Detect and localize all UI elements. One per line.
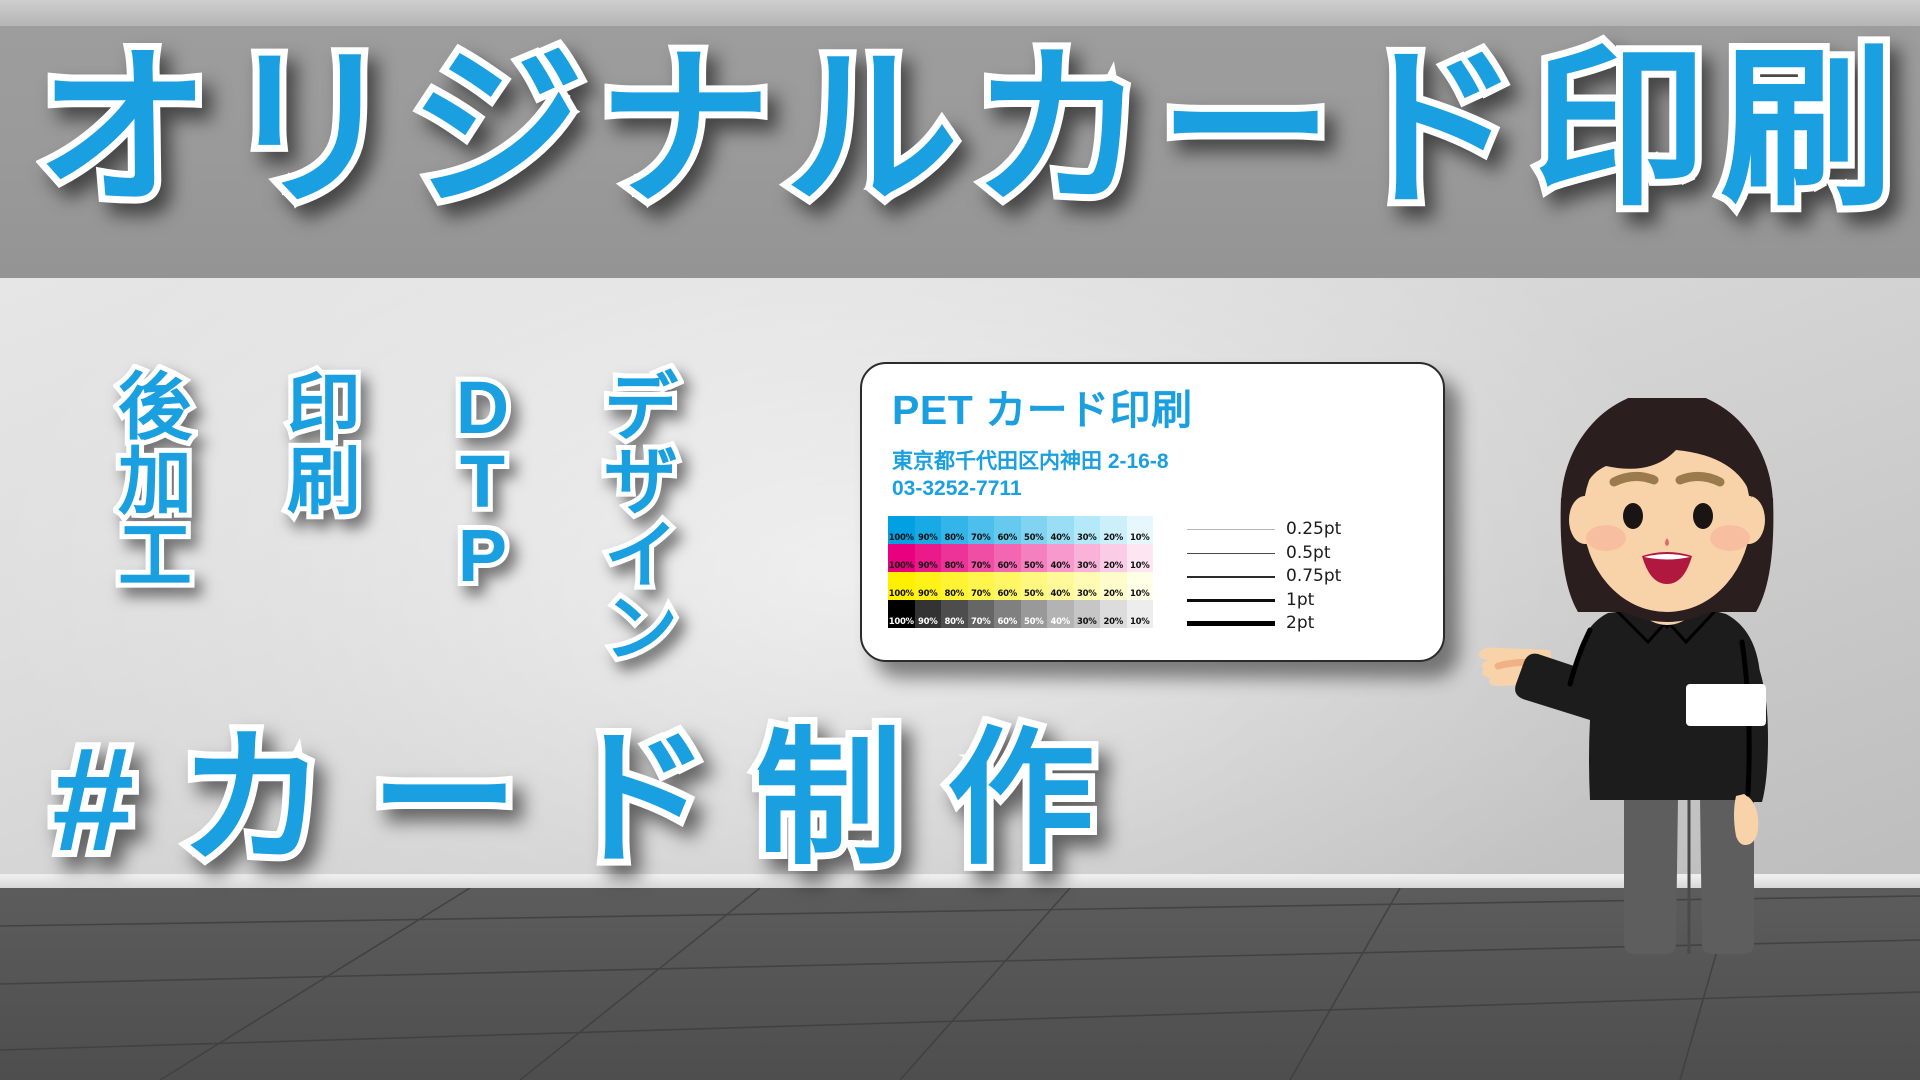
swatch-percent-label: 80% [945,562,964,572]
color-swatch: 70% [968,600,995,628]
swatch-percent-label: 80% [945,590,964,600]
staff-figure [1438,398,1920,958]
service-column-dtp: D T P [456,372,509,672]
color-swatch: 10% [1127,600,1154,628]
sample-card: PET カード印刷 東京都千代田区内神田 2-16-8 03-3252-7711… [860,362,1445,662]
swatch-percent-label: 60% [998,534,1017,544]
service-char: D [456,372,509,444]
color-swatch: 90% [915,572,942,600]
swatch-percent-label: 30% [1077,562,1096,572]
swatch-percent-label: 10% [1130,590,1149,600]
hashtag-char: 作 [947,717,1096,882]
swatch-percent-label: 40% [1051,618,1070,628]
color-swatch: 20% [1100,516,1127,544]
card-contact: 東京都千代田区内神田 2-16-8 03-3252-7711 [892,449,1417,503]
swatch-percent-label: 20% [1104,618,1123,628]
staff-illustration [1438,398,1920,958]
color-swatch: 80% [941,544,968,572]
headline-char: ジ [410,42,586,216]
service-column-design: デ ザ イ ン [604,372,678,672]
swatch-percent-label: 60% [998,618,1017,628]
service-char: P [458,520,507,592]
color-swatch: 50% [1021,572,1048,600]
hashtag-label: # カ ー ド 制 作 [52,726,1096,874]
line-weight-label: 2pt [1286,615,1314,632]
swatch-percent-label: 100% [889,534,914,544]
service-char: イ [604,520,678,592]
color-swatch: 60% [994,544,1021,572]
color-swatch: 80% [941,572,968,600]
thumbnail-canvas: オ リ ジ ナ ル カ ー ド 印 刷 デ ザ イ ン D T P 印 刷 後 … [0,0,1920,1080]
swatch-percent-label: 40% [1051,562,1070,572]
headline-char: 刷 [1720,42,1896,216]
color-swatch: 20% [1100,544,1127,572]
color-swatch: 50% [1021,516,1048,544]
background-top-band-sheen [0,0,1920,26]
color-swatch: 90% [915,600,942,628]
color-swatch: 20% [1100,600,1127,628]
color-swatch: 40% [1047,516,1074,544]
swatch-percent-label: 20% [1104,562,1123,572]
headline-char: 印 [1533,42,1709,216]
color-swatch: 90% [915,544,942,572]
swatch-percent-label: 100% [889,618,914,628]
swatch-percent-label: 40% [1051,534,1070,544]
swatch-percent-label: 20% [1104,590,1123,600]
service-char: デ [604,372,678,444]
color-swatch: 100% [888,572,915,600]
color-swatch: 60% [994,600,1021,628]
swatch-percent-label: 60% [998,562,1017,572]
service-char: 後 [118,372,192,444]
color-row-cyan: 100%90%80%70%60%50%40%30%20%10% [888,516,1153,544]
line-weight-row: 0.75pt [1187,565,1417,589]
line-weight-label: 0.5pt [1286,545,1331,562]
swatch-percent-label: 10% [1130,534,1149,544]
headline-char: リ [223,42,399,216]
color-swatch: 80% [941,600,968,628]
hashtag-char: 制 [755,717,904,882]
color-swatch: 70% [968,572,995,600]
color-swatch: 100% [888,516,915,544]
service-char: ザ [604,446,678,518]
line-weight-row: 1pt [1187,588,1417,612]
blush-left [1710,525,1750,551]
color-swatch: 20% [1100,572,1127,600]
swatch-percent-label: 30% [1077,618,1096,628]
color-row-yellow: 100%90%80%70%60%50%40%30%20%10% [888,572,1153,600]
service-char: 工 [118,520,192,592]
color-swatch: 10% [1127,572,1154,600]
service-column-post-process: 後 加 工 [118,372,192,672]
color-row-black: 100%90%80%70%60%50%40%30%20%10% [888,600,1153,628]
hashtag-char: カ [178,717,327,882]
swatch-percent-label: 40% [1051,590,1070,600]
color-swatch: 100% [888,544,915,572]
hashtag-char: # [52,717,136,882]
color-swatch: 30% [1074,600,1101,628]
color-swatch: 50% [1021,600,1048,628]
line-weight-legend: 0.25pt0.5pt0.75pt1pt2pt [1169,516,1417,636]
hashtag-char: ド [563,717,712,882]
swatch-percent-label: 100% [889,590,914,600]
swatch-percent-label: 70% [971,590,990,600]
color-swatch: 60% [994,572,1021,600]
swatch-percent-label: 50% [1024,534,1043,544]
swatch-percent-label: 70% [971,534,990,544]
service-char: 印 [287,372,361,444]
swatch-percent-label: 50% [1024,590,1043,600]
swatch-percent-label: 100% [889,562,914,572]
swatch-percent-label: 90% [918,590,937,600]
color-swatch: 10% [1127,544,1154,572]
swatch-percent-label: 30% [1077,534,1096,544]
color-swatch: 30% [1074,572,1101,600]
swatch-percent-label: 50% [1024,562,1043,572]
swatch-percent-label: 20% [1104,534,1123,544]
headline-char: オ [36,42,212,216]
headline-char: ル [785,42,961,216]
card-title: PET カード印刷 [892,390,1417,431]
swatch-percent-label: 10% [1130,562,1149,572]
line-weight-sample [1187,541,1275,565]
cmyk-color-chart: 100%90%80%70%60%50%40%30%20%10%100%90%80… [888,516,1153,628]
line-weight-sample [1187,588,1275,612]
color-swatch: 100% [888,600,915,628]
headline-char: カ [972,42,1148,216]
card-phone: 03-3252-7711 [892,476,1417,503]
line-weight-label: 0.75pt [1286,568,1341,585]
color-swatch: 30% [1074,516,1101,544]
page-title: オ リ ジ ナ ル カ ー ド 印 刷 [36,36,1896,222]
line-weight-sample [1187,565,1275,589]
name-tag [1686,684,1766,726]
line-weight-row: 0.5pt [1187,541,1417,565]
service-char: 加 [118,446,192,518]
color-swatch: 80% [941,516,968,544]
eye-left [1693,503,1713,529]
color-swatch: 50% [1021,544,1048,572]
color-swatch: 10% [1127,516,1154,544]
swatch-percent-label: 90% [918,562,937,572]
service-column-printing: 印 刷 [287,372,361,672]
color-swatch: 40% [1047,572,1074,600]
headline-char: ー [1159,42,1335,216]
color-swatch: 40% [1047,544,1074,572]
swatch-percent-label: 70% [971,618,990,628]
headline-char: ナ [597,42,773,216]
swatch-percent-label: 80% [945,618,964,628]
card-address: 東京都千代田区内神田 2-16-8 [892,449,1417,476]
color-row-magenta: 100%90%80%70%60%50%40%30%20%10% [888,544,1153,572]
headline-char: ド [1346,42,1522,216]
swatch-percent-label: 80% [945,534,964,544]
line-weight-label: 0.25pt [1286,521,1341,538]
service-char: ン [604,593,678,665]
swatch-percent-label: 10% [1130,618,1149,628]
color-swatch: 70% [968,516,995,544]
line-weight-sample [1187,612,1275,636]
swatch-percent-label: 90% [918,534,937,544]
color-swatch: 90% [915,516,942,544]
line-weight-row: 2pt [1187,612,1417,636]
swatch-percent-label: 90% [918,618,937,628]
eye-right [1623,503,1643,529]
swatch-percent-label: 60% [998,590,1017,600]
line-weight-sample [1187,518,1275,542]
card-body: 100%90%80%70%60%50%40%30%20%10%100%90%80… [888,516,1417,636]
swatch-percent-label: 50% [1024,618,1043,628]
color-swatch: 30% [1074,544,1101,572]
color-swatch: 40% [1047,600,1074,628]
hashtag-char: ー [371,717,520,882]
service-char: 刷 [287,446,361,518]
line-weight-label: 1pt [1286,592,1314,609]
swatch-percent-label: 70% [971,562,990,572]
color-swatch: 60% [994,516,1021,544]
blush-right [1586,525,1626,551]
color-swatch: 70% [968,544,995,572]
swatch-percent-label: 30% [1077,590,1096,600]
service-char: T [460,446,505,518]
service-columns: デ ザ イ ン D T P 印 刷 後 加 工 [118,372,678,672]
line-weight-row: 0.25pt [1187,518,1417,542]
